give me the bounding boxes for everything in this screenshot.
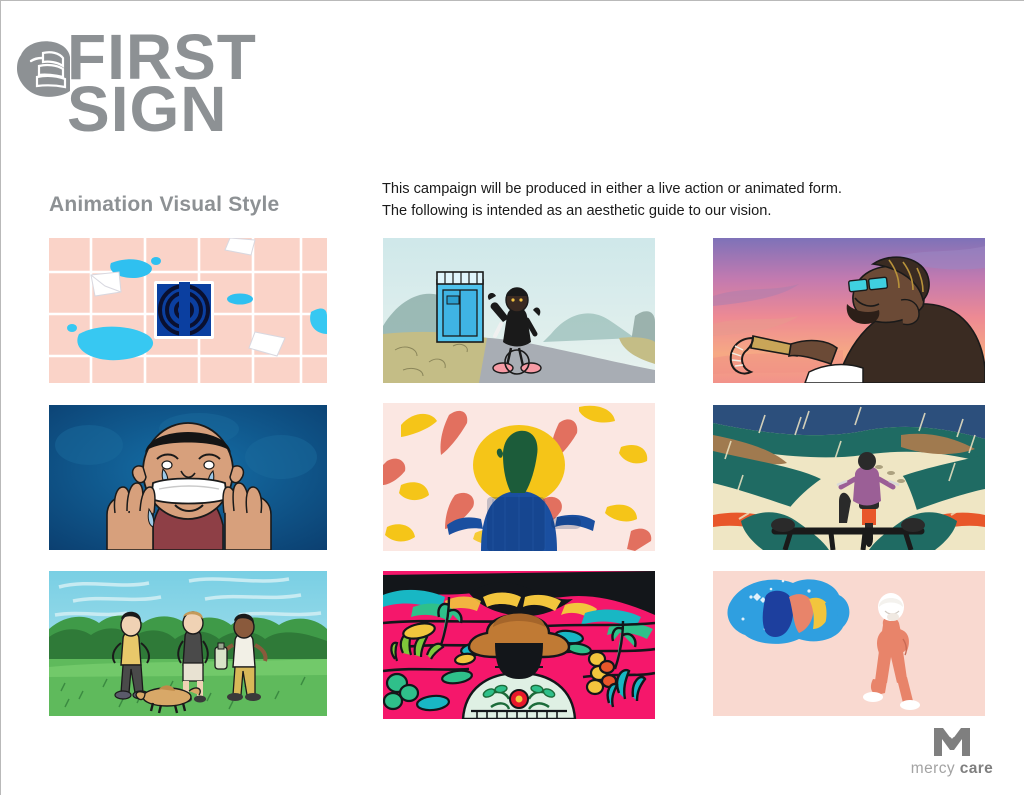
- mercy-word: mercy: [911, 760, 960, 777]
- intro-line-2: The following is intended as an aestheti…: [382, 201, 982, 223]
- tile-5-artwork: [383, 403, 655, 551]
- style-frame-3[interactable]: [713, 238, 985, 383]
- style-frame-6[interactable]: [713, 405, 985, 550]
- tile-3-artwork: [713, 238, 985, 383]
- style-frame-1[interactable]: [49, 238, 327, 383]
- style-frame-2[interactable]: [383, 238, 655, 383]
- tile-2-artwork: [383, 238, 655, 383]
- tile-9-artwork: [713, 571, 985, 716]
- style-frame-4[interactable]: [49, 405, 327, 550]
- style-frame-5[interactable]: [383, 403, 655, 551]
- slide-canvas: FIRST SIGN Animation Visual Style This c…: [1, 1, 1024, 795]
- care-word: care: [960, 760, 994, 777]
- mercy-care-m-heart-icon: [932, 727, 972, 757]
- intro-paragraph: This campaign will be produced in either…: [382, 179, 982, 223]
- style-frame-8[interactable]: [383, 571, 655, 719]
- intro-line-1: This campaign will be produced in either…: [382, 179, 982, 201]
- tile-4-artwork: [49, 405, 327, 550]
- style-frame-7[interactable]: [49, 571, 327, 716]
- section-title: Animation Visual Style: [49, 193, 279, 217]
- mercy-care-wordmark: mercy care: [897, 760, 1007, 778]
- tile-6-artwork: [713, 405, 985, 550]
- tile-7-artwork: [49, 571, 327, 716]
- brand-wordmark: FIRST SIGN: [67, 31, 257, 136]
- tile-8-artwork: [383, 571, 655, 719]
- mercy-care-logo: mercy care: [897, 727, 1007, 778]
- first-sign-logo: FIRST SIGN: [9, 29, 339, 169]
- tile-1-artwork: [49, 238, 327, 383]
- style-frame-9[interactable]: [713, 571, 985, 716]
